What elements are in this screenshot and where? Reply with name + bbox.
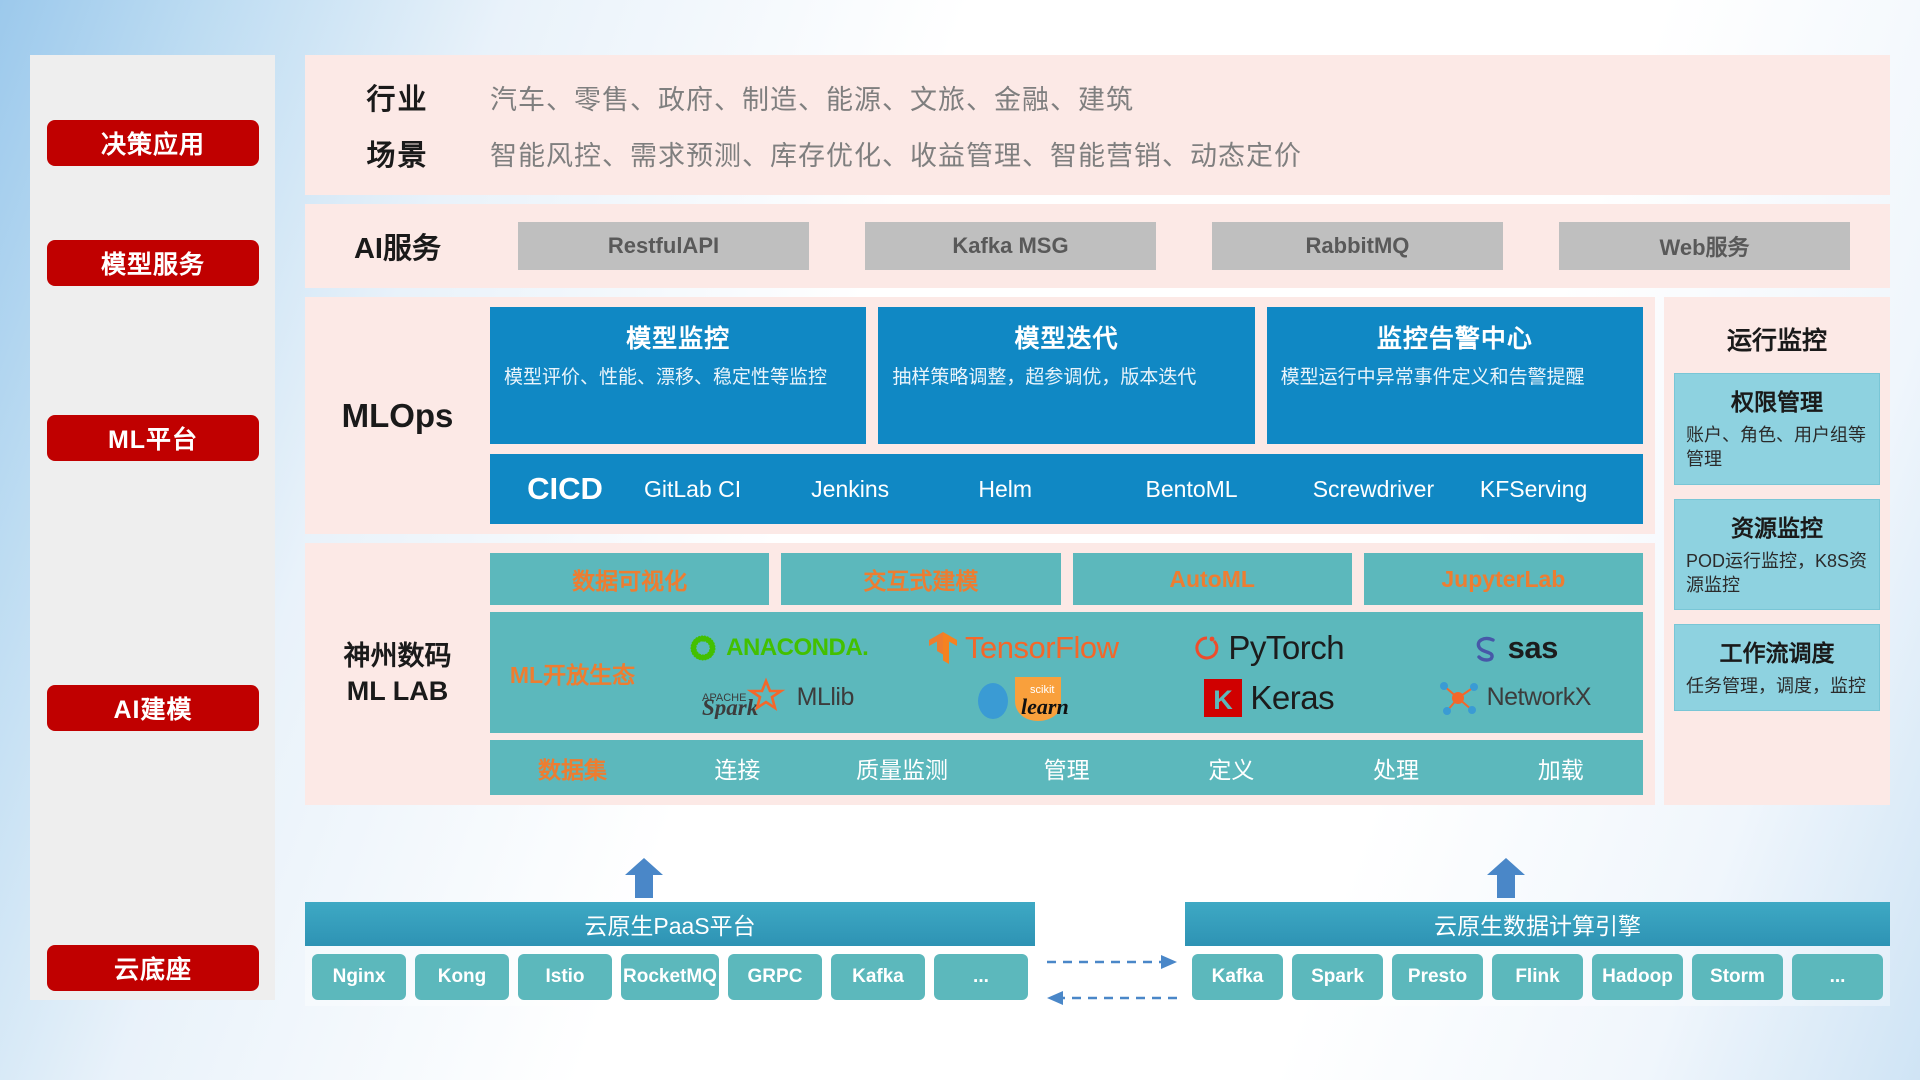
cloud-paas-block: 云原生PaaS平台 Nginx Kong Istio RocketMQ GRPC… [305,902,1035,1006]
anaconda-mark-icon [687,632,719,664]
monitoring-card-desc: 任务管理，调度，监控 [1686,674,1868,698]
application-key-scenario: 场景 [305,132,490,174]
up-arrow-paas-icon [623,858,665,898]
ml-lab-label: 神州数码 ML LAB [305,553,490,795]
application-value-industry: 汽车、零售、政府、制造、能源、文旅、金融、建筑 [490,78,1134,117]
cicd-tool-kfserving[interactable]: KFServing [1476,475,1643,504]
ai-service-chip-rabbitmq[interactable]: RabbitMQ [1212,222,1503,270]
mlops-card-title: 模型监控 [504,319,852,355]
cicd-bar: CICD GitLab CI Jenkins Helm BentoML Scre… [490,454,1643,524]
pytorch-logo: PyTorch [1193,629,1344,667]
application-band: 行业 汽车、零售、政府、制造、能源、文旅、金融、建筑 场景 智能风控、需求预测、… [305,55,1890,195]
ml-lab-label-line2: ML LAB [347,674,449,709]
anaconda-logo: ANACONDA. [687,632,868,664]
monitoring-panel-title: 运行监控 [1674,307,1880,373]
mlops-card-title: 监控告警中心 [1281,319,1629,355]
monitoring-card-workflow[interactable]: 工作流调度 任务管理，调度，监控 [1674,624,1880,711]
scikit-learn-mark-icon: scikit learn [975,673,1071,723]
mlops-card-desc: 模型运行中异常事件定义和告警提醒 [1281,365,1629,391]
application-value-scenario: 智能风控、需求预测、库存优化、收益管理、智能营销、动态定价 [490,134,1302,173]
sas-logo: sas [1471,630,1558,666]
bidirectional-link-arrows [1043,950,1181,1010]
lab-tab-interactive-modeling[interactable]: 交互式建模 [781,553,1060,605]
rail-item-label: ML平台 [108,420,198,456]
monitoring-card-resource[interactable]: 资源监控 POD运行监控，K8S资源监控 [1674,499,1880,611]
ai-service-chip-web[interactable]: Web服务 [1559,222,1850,270]
up-arrow-compute-icon [1485,858,1527,898]
dataset-item-load[interactable]: 加载 [1478,751,1643,785]
monitoring-card-permission[interactable]: 权限管理 账户、角色、用户组等管理 [1674,373,1880,485]
monitoring-card-desc: POD运行监控，K8S资源监控 [1686,549,1868,598]
cicd-label: CICD [490,471,640,507]
cicd-tool-bentoml[interactable]: BentoML [1142,475,1309,504]
cicd-tool-gitlab[interactable]: GitLab CI [640,475,807,504]
paas-chip-more[interactable]: ... [934,954,1028,1000]
cicd-tool-helm[interactable]: Helm [974,475,1141,504]
cicd-tool-jenkins[interactable]: Jenkins [807,475,974,504]
compute-chip-storm[interactable]: Storm [1692,954,1783,1000]
spark-mark-icon: APACHE Spark [702,677,790,719]
dataset-item-connect[interactable]: 连接 [655,751,820,785]
rail-item-label: 云底座 [114,950,192,986]
stack-layer-rail: 决策应用 模型服务 ML平台 AI建模 云底座 [30,55,275,1000]
mlops-card-desc: 模型评价、性能、漂移、稳定性等监控 [504,365,852,391]
monitoring-panel: 运行监控 权限管理 账户、角色、用户组等管理 资源监控 POD运行监控，K8S资… [1664,297,1890,805]
tensorflow-wordmark: TensorFlow [965,630,1119,666]
rail-item-model-service[interactable]: 模型服务 [47,240,259,286]
sas-mark-icon [1471,633,1501,663]
compute-chip-flink[interactable]: Flink [1492,954,1583,1000]
ml-ecosystem-label: ML开放生态 [490,656,655,690]
ml-ecosystem-row: ML开放生态 ANACONDA. [490,612,1643,733]
compute-chip-kafka[interactable]: Kafka [1192,954,1283,1000]
lab-tab-data-visualization[interactable]: 数据可视化 [490,553,769,605]
paas-chip-istio[interactable]: Istio [518,954,612,1000]
pytorch-mark-icon [1193,632,1221,664]
mlops-band: MLOps 模型监控 模型评价、性能、漂移、稳定性等监控 模型迭代 抽样策略调整… [305,297,1655,534]
networkx-mark-icon [1438,678,1480,718]
rail-item-ml-platform[interactable]: ML平台 [47,415,259,461]
rail-item-cloud-base[interactable]: 云底座 [47,945,259,991]
paas-chip-nginx[interactable]: Nginx [312,954,406,1000]
mlops-card-title: 模型迭代 [892,319,1240,355]
cicd-tool-screwdriver[interactable]: Screwdriver [1309,475,1476,504]
paas-chip-grpc[interactable]: GRPC [728,954,822,1000]
mlops-card-alert-center[interactable]: 监控告警中心 模型运行中异常事件定义和告警提醒 [1267,307,1643,444]
cloud-compute-title: 云原生数据计算引擎 [1185,902,1890,946]
pytorch-wordmark: PyTorch [1228,629,1344,667]
dataset-label: 数据集 [490,751,655,785]
keras-logo: K Keras [1203,678,1334,718]
cloud-paas-title: 云原生PaaS平台 [305,902,1035,946]
architecture-main: 行业 汽车、零售、政府、制造、能源、文旅、金融、建筑 场景 智能风控、需求预测、… [305,55,1890,805]
monitoring-card-desc: 账户、角色、用户组等管理 [1686,423,1868,472]
application-row-industry: 行业 汽车、零售、政府、制造、能源、文旅、金融、建筑 [305,69,1890,125]
rail-item-decision-app[interactable]: 决策应用 [47,120,259,166]
ai-service-band: AI服务 RestfulAPI Kafka MSG RabbitMQ Web服务 [305,204,1890,288]
rail-item-label: 决策应用 [101,125,205,161]
compute-chip-spark[interactable]: Spark [1292,954,1383,1000]
compute-chip-more[interactable]: ... [1792,954,1883,1000]
networkx-wordmark: NetworkX [1487,685,1591,710]
dataset-item-process[interactable]: 处理 [1314,751,1479,785]
ai-service-chip-restful[interactable]: RestfulAPI [518,222,809,270]
compute-chip-hadoop[interactable]: Hadoop [1592,954,1683,1000]
mlops-card-model-monitor[interactable]: 模型监控 模型评价、性能、漂移、稳定性等监控 [490,307,866,444]
cloud-compute-block: 云原生数据计算引擎 Kafka Spark Presto Flink Hadoo… [1185,902,1890,1006]
ai-service-label: AI服务 [305,225,490,267]
cloud-base-section: 云原生PaaS平台 Nginx Kong Istio RocketMQ GRPC… [305,880,1890,1000]
monitoring-card-title: 权限管理 [1686,383,1868,417]
mlops-card-model-iteration[interactable]: 模型迭代 抽样策略调整，超参调优，版本迭代 [878,307,1254,444]
platform-and-monitoring: MLOps 模型监控 模型评价、性能、漂移、稳定性等监控 模型迭代 抽样策略调整… [305,297,1890,805]
ml-lab-label-line1: 神州数码 [344,639,452,674]
tensorflow-mark-icon [928,631,958,665]
paas-chip-rocketmq[interactable]: RocketMQ [621,954,719,1000]
rail-item-label: AI建模 [113,690,192,726]
sas-wordmark: sas [1508,630,1558,666]
monitoring-card-title: 资源监控 [1686,509,1868,543]
rail-item-ai-modeling[interactable]: AI建模 [47,685,259,731]
application-row-scenario: 场景 智能风控、需求预测、库存优化、收益管理、智能营销、动态定价 [305,125,1890,181]
keras-wordmark: Keras [1250,679,1334,717]
scikit-learn-logo: scikit learn [975,673,1071,723]
anaconda-wordmark: ANACONDA. [726,634,868,662]
mllib-wordmark: MLlib [797,683,854,712]
paas-chip-kong[interactable]: Kong [415,954,509,1000]
compute-chip-presto[interactable]: Presto [1392,954,1483,1000]
ai-service-chip-kafka[interactable]: Kafka MSG [865,222,1156,270]
lab-tab-jupyterlab[interactable]: JupyterLab [1364,553,1643,605]
keras-mark-icon: K [1203,678,1243,718]
paas-chip-kafka[interactable]: Kafka [831,954,925,1000]
application-key-industry: 行业 [305,76,490,118]
svg-text:learn: learn [1021,694,1069,719]
dataset-item-define[interactable]: 定义 [1149,751,1314,785]
networkx-logo: NetworkX [1438,678,1591,718]
dataset-row: 数据集 连接 质量监测 管理 定义 处理 加载 [490,740,1643,795]
ml-lab-band: 神州数码 ML LAB 数据可视化 交互式建模 AutoML JupyterLa… [305,543,1655,805]
svg-text:Spark: Spark [702,695,759,719]
mlops-card-desc: 抽样策略调整，超参调优，版本迭代 [892,365,1240,391]
monitoring-card-title: 工作流调度 [1686,634,1868,668]
spark-mllib-logo: APACHE Spark MLlib [702,677,854,719]
tensorflow-logo: TensorFlow [928,630,1119,666]
mlops-label: MLOps [305,307,490,524]
lab-tab-automl[interactable]: AutoML [1073,553,1352,605]
dataset-item-quality[interactable]: 质量监测 [820,751,985,785]
svg-text:K: K [1214,685,1234,715]
rail-item-label: 模型服务 [101,245,205,281]
dataset-item-manage[interactable]: 管理 [984,751,1149,785]
